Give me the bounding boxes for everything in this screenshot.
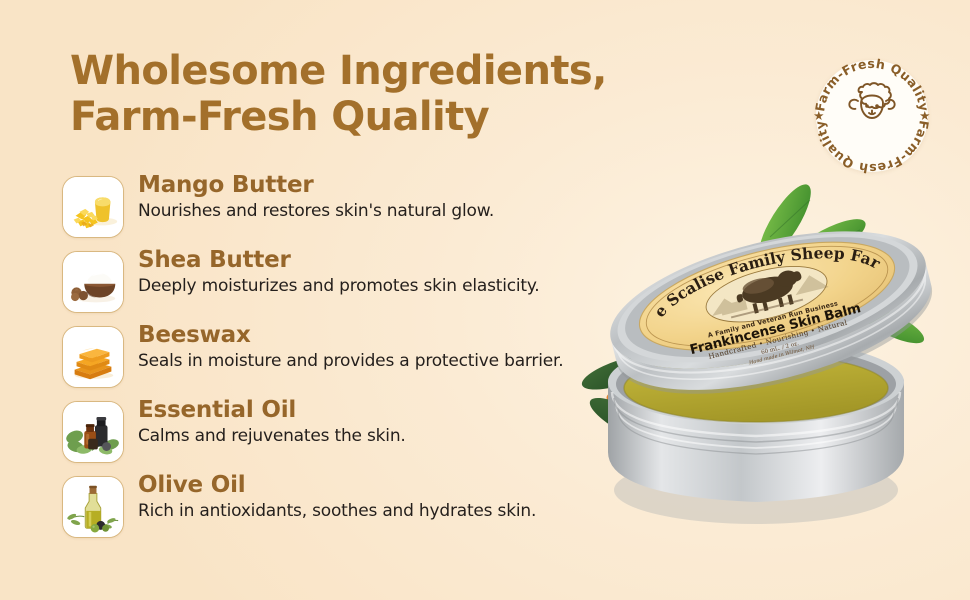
list-item-text: Essential Oil Calms and rejuvenates the … bbox=[138, 397, 618, 447]
list-item-text: Beeswax Seals in moisture and provides a… bbox=[138, 322, 618, 372]
mango-butter-icon bbox=[62, 176, 124, 238]
list-item: Beeswax Seals in moisture and provides a… bbox=[62, 324, 622, 399]
list-item-text: Olive Oil Rich in antioxidants, soothes … bbox=[138, 472, 618, 522]
ingredient-description: Rich in antioxidants, soothes and hydrat… bbox=[138, 500, 618, 522]
ingredient-list: Mango Butter Nourishes and restores skin… bbox=[62, 174, 622, 549]
list-item: Shea Butter Deeply moisturizes and promo… bbox=[62, 249, 622, 324]
ingredient-title: Shea Butter bbox=[138, 247, 618, 274]
ingredient-description: Seals in moisture and provides a protect… bbox=[138, 350, 618, 372]
list-item-text: Shea Butter Deeply moisturizes and promo… bbox=[138, 247, 618, 297]
shea-butter-icon bbox=[62, 251, 124, 313]
olive-oil-icon bbox=[62, 476, 124, 538]
ingredient-title: Olive Oil bbox=[138, 472, 618, 499]
infographic-canvas: Wholesome Ingredients, Farm-Fresh Qualit… bbox=[0, 0, 970, 600]
ingredient-title: Essential Oil bbox=[138, 397, 618, 424]
list-item: Essential Oil Calms and rejuvenates the … bbox=[62, 399, 622, 474]
list-item: Mango Butter Nourishes and restores skin… bbox=[62, 174, 622, 249]
ingredient-title: Mango Butter bbox=[138, 172, 618, 199]
ingredient-title: Beeswax bbox=[138, 322, 618, 349]
list-item-text: Mango Butter Nourishes and restores skin… bbox=[138, 172, 618, 222]
beeswax-icon bbox=[62, 326, 124, 388]
product-image: The Scalise Family Sheep Farm bbox=[560, 92, 970, 552]
headline-line-1: Wholesome Ingredients, bbox=[70, 48, 607, 94]
essential-oil-icon bbox=[62, 401, 124, 463]
ingredient-description: Nourishes and restores skin's natural gl… bbox=[138, 200, 618, 222]
list-item: Olive Oil Rich in antioxidants, soothes … bbox=[62, 474, 622, 549]
ingredient-description: Calms and rejuvenates the skin. bbox=[138, 425, 618, 447]
ingredient-description: Deeply moisturizes and promotes skin ela… bbox=[138, 275, 618, 297]
